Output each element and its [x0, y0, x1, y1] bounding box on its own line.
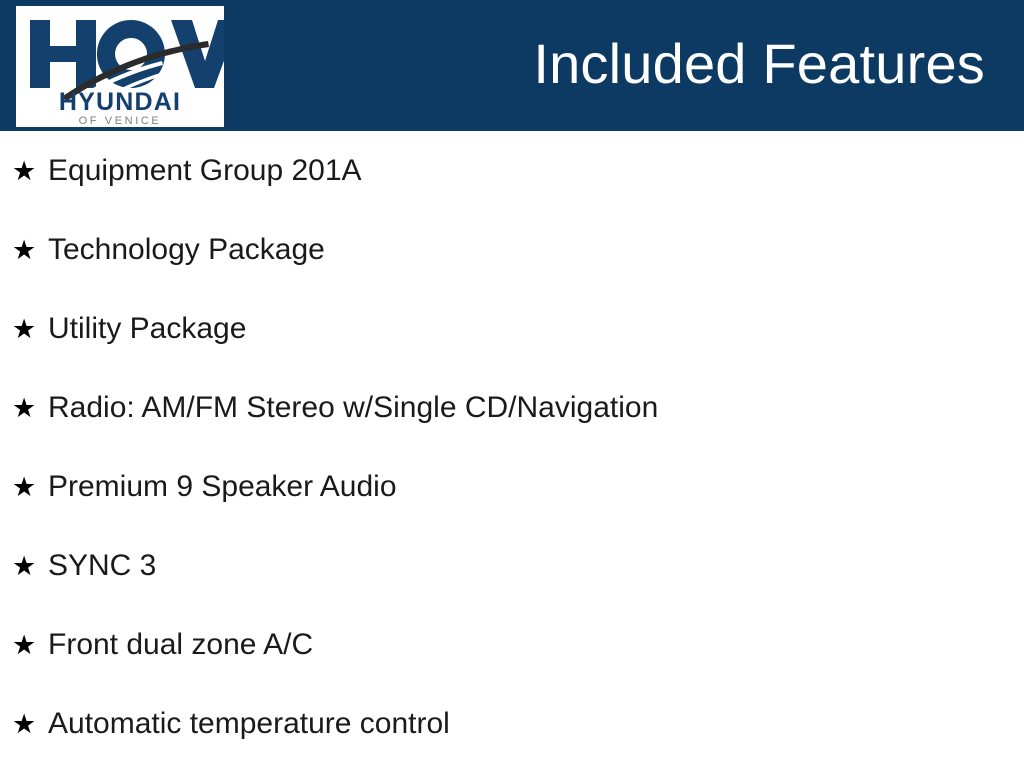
list-item-label: Equipment Group 201A — [48, 152, 362, 190]
star-icon: ★ — [12, 709, 34, 739]
list-item: ★ Technology Package — [12, 230, 325, 270]
list-item: ★ Premium 9 Speaker Audio — [12, 467, 397, 507]
list-item-label: Automatic temperature control — [48, 705, 450, 743]
list-item-label: Utility Package — [48, 310, 246, 348]
list-item: ★ SYNC 3 — [12, 546, 156, 586]
list-item: ★ Automatic temperature control — [12, 704, 450, 744]
page-title: Included Features — [533, 28, 985, 100]
list-item-label: SYNC 3 — [48, 547, 156, 585]
dealer-logo: HYUNDAI OF VENICE — [16, 6, 224, 127]
svg-text:OF VENICE: OF VENICE — [79, 115, 162, 127]
list-item: ★ Radio: AM/FM Stereo w/Single CD/Naviga… — [12, 388, 658, 428]
star-icon: ★ — [12, 235, 34, 265]
star-icon: ★ — [12, 472, 34, 502]
list-item: ★ Utility Package — [12, 309, 246, 349]
hov-logo-icon: HYUNDAI OF VENICE — [16, 6, 224, 127]
list-item: ★ Front dual zone A/C — [12, 625, 313, 665]
star-icon: ★ — [12, 630, 34, 660]
list-item-label: Front dual zone A/C — [48, 626, 313, 664]
svg-text:HYUNDAI: HYUNDAI — [59, 88, 181, 116]
included-features-list: ★ Equipment Group 201A ★ Technology Pack… — [0, 131, 1024, 768]
star-icon: ★ — [12, 551, 34, 581]
list-item-label: Technology Package — [48, 231, 325, 269]
star-icon: ★ — [12, 314, 34, 344]
list-item-label: Premium 9 Speaker Audio — [48, 468, 397, 506]
star-icon: ★ — [12, 393, 34, 423]
list-item: ★ Equipment Group 201A — [12, 151, 362, 191]
logo-artwork: HYUNDAI OF VENICE — [16, 6, 224, 127]
star-icon: ★ — [12, 156, 34, 186]
list-item-label: Radio: AM/FM Stereo w/Single CD/Navigati… — [48, 389, 658, 427]
slide-root: Included Features HYUNDAI OF VENICE — [0, 0, 1024, 768]
